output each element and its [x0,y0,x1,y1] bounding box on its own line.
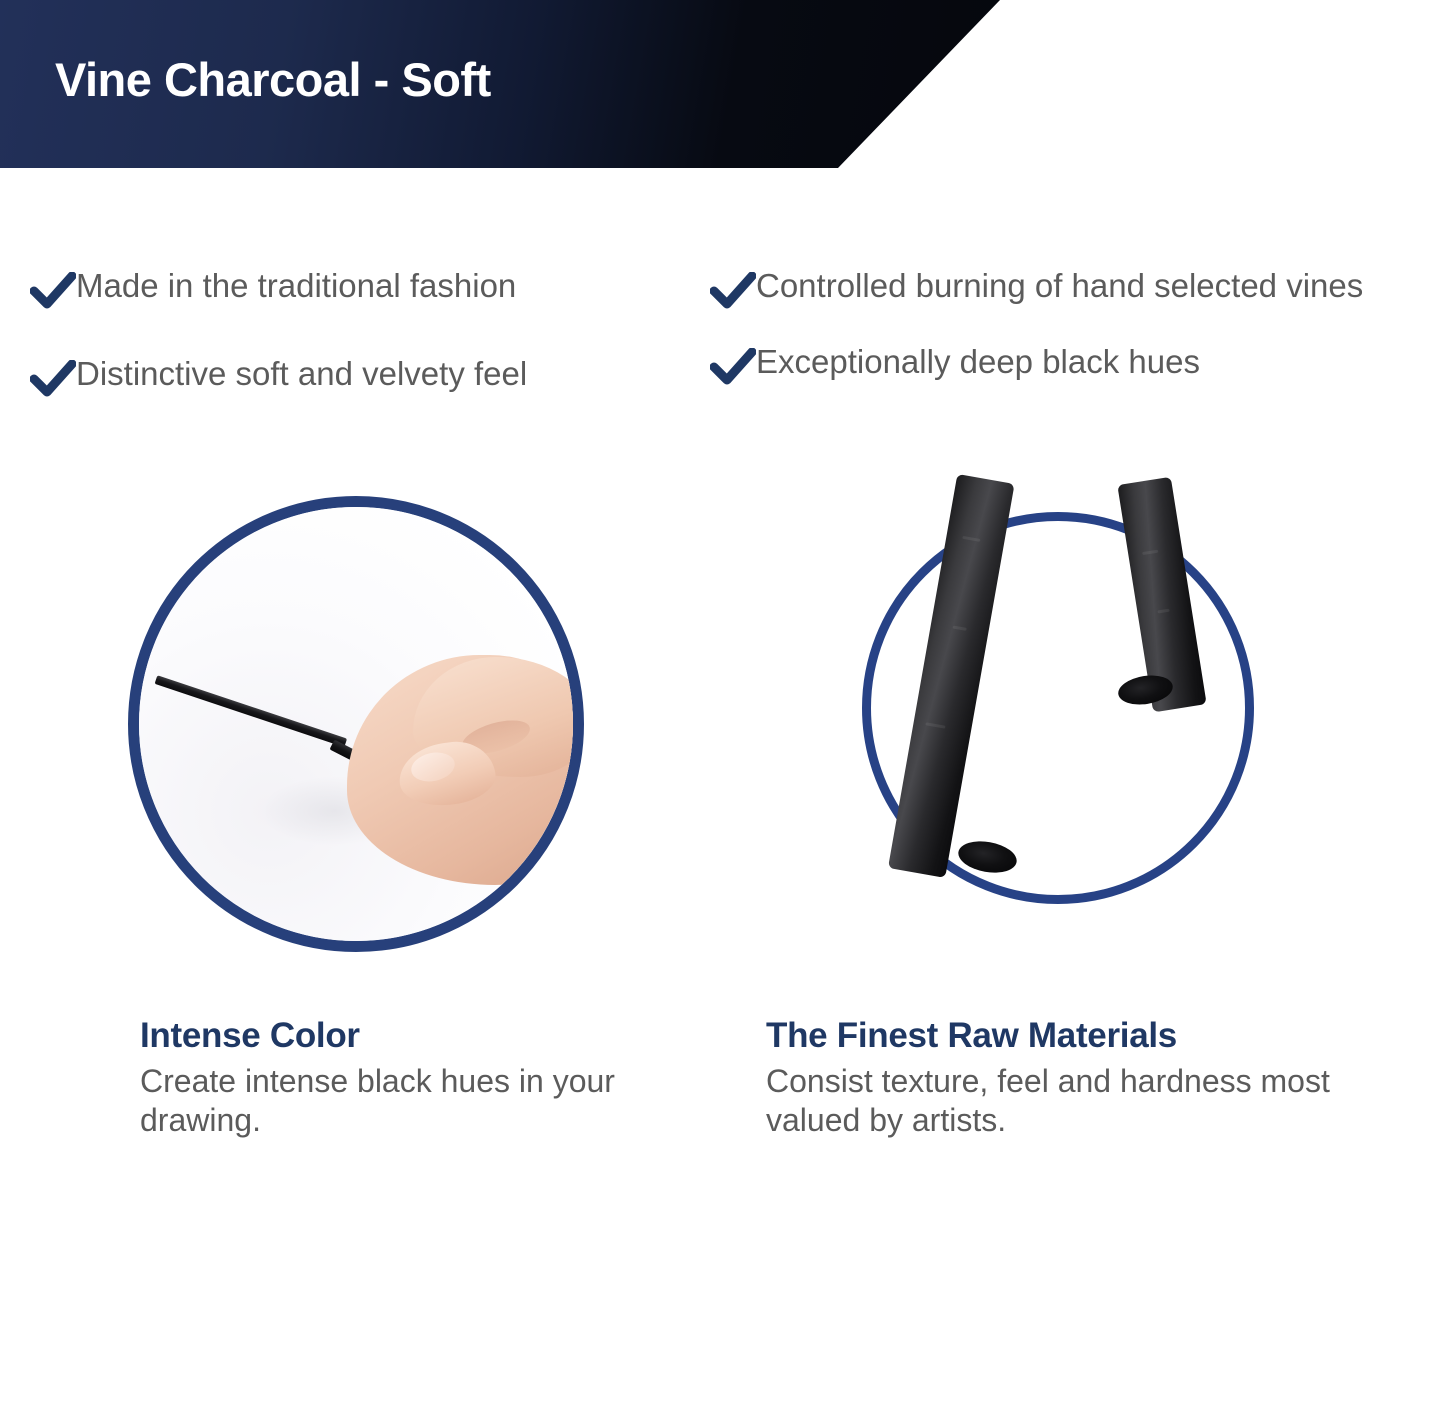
check-icon [710,348,756,390]
feature-card-intense-color [128,496,588,952]
check-icon [30,272,76,314]
bullet-item: Controlled burning of hand selected vine… [710,266,1445,314]
check-icon [710,272,756,314]
charcoal-rod-left [888,474,1015,878]
bullet-item: Exceptionally deep black hues [710,342,1445,390]
check-icon [30,360,76,402]
bullet-label: Distinctive soft and velvety feel [76,354,527,394]
hand-drawing-with-charcoal-photo [128,496,584,952]
caption-raw-materials: The Finest Raw Materials Consist texture… [766,1016,1416,1140]
caption-intense-color: Intense Color Create intense black hues … [140,1016,700,1140]
caption-title: The Finest Raw Materials [766,1016,1416,1056]
feature-bullets: Made in the traditional fashion Distinct… [0,266,1445,466]
charcoal-rods-group [871,521,1245,895]
caption-body: Consist texture, feel and hardness most … [766,1062,1416,1140]
bullet-label: Made in the traditional fashion [76,266,516,306]
caption-body: Create intense black hues in your drawin… [140,1062,700,1140]
product-infographic: Vine Charcoal - Soft Made in the traditi… [0,0,1445,1415]
bullet-column-right: Controlled burning of hand selected vine… [710,266,1445,418]
bullet-label: Controlled burning of hand selected vine… [756,266,1363,306]
caption-title: Intense Color [140,1016,700,1056]
two-charcoal-sticks-photo [862,512,1254,904]
measurement-section: 6” [0,1250,1445,1415]
bullet-column-left: Made in the traditional fashion Distinct… [30,266,690,442]
page-title: Vine Charcoal - Soft [55,52,491,107]
bullet-item: Made in the traditional fashion [30,266,690,314]
feature-card-raw-materials [862,496,1262,904]
bullet-item: Distinctive soft and velvety feel [30,354,690,402]
bullet-label: Exceptionally deep black hues [756,342,1200,382]
charcoal-rod-left-end [956,837,1019,877]
header-banner: Vine Charcoal - Soft [0,0,1010,170]
